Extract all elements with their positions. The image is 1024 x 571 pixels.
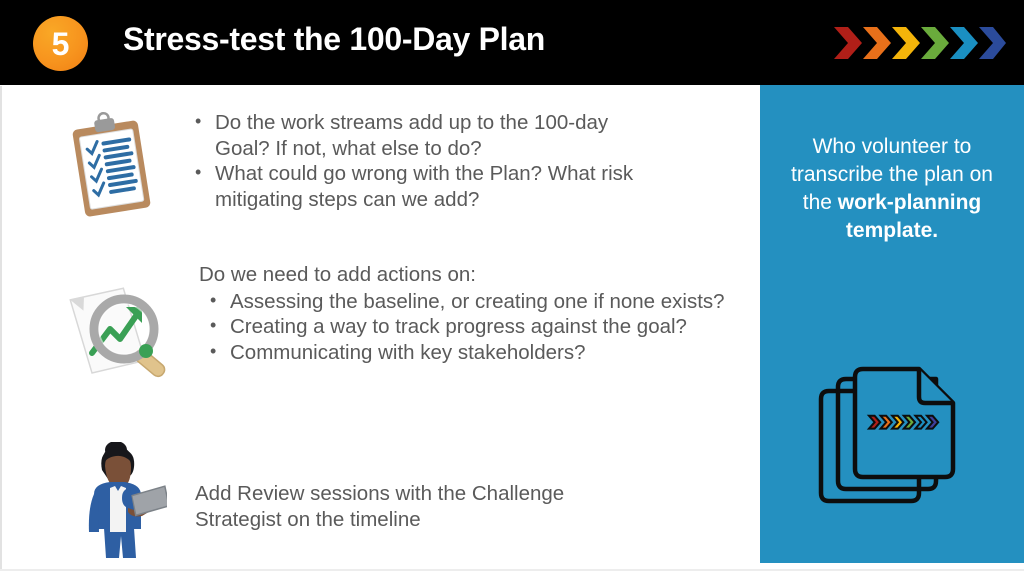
- list-item: Assessing the baseline, or creating one …: [207, 289, 744, 315]
- content-row-3: Add Review sessions with the Challenge S…: [195, 481, 645, 532]
- page-title: Stress-test the 100-Day Plan: [123, 21, 545, 58]
- list-item: Communicating with key stakeholders?: [207, 340, 744, 366]
- list-item: Do the work streams add up to the 100-da…: [192, 110, 662, 161]
- side-panel-text: Who volunteer to transcribe the plan on …: [776, 133, 1008, 245]
- slide-canvas: 5 Stress-test the 100-Day Plan Who volun…: [0, 0, 1024, 571]
- step-number-badge: 5: [33, 16, 88, 71]
- slide-header: 5 Stress-test the 100-Day Plan: [0, 0, 1024, 85]
- slide-left-border: [0, 86, 2, 571]
- content-row-1: Do the work streams add up to the 100-da…: [192, 110, 662, 212]
- rainbow-chevron-logo: [834, 26, 1006, 60]
- person-with-laptop-icon: [72, 442, 167, 560]
- row-3-text: Add Review sessions with the Challenge S…: [195, 481, 645, 532]
- step-number-label: 5: [52, 28, 70, 60]
- list-item: Creating a way to track progress against…: [207, 314, 744, 340]
- document-magnifier-growth-icon: [58, 277, 180, 389]
- list-item: What could go wrong with the Plan? What …: [192, 161, 662, 212]
- document-stack-icon: [807, 357, 977, 527]
- row-2-lead-text: Do we need to add actions on:: [199, 262, 744, 288]
- row-1-bullet-list: Do the work streams add up to the 100-da…: [192, 110, 662, 212]
- side-panel-text-bold: work-planning template.: [838, 191, 982, 242]
- side-panel: Who volunteer to transcribe the plan on …: [760, 85, 1024, 563]
- content-row-2: Do we need to add actions on: Assessing …: [199, 262, 744, 365]
- clipboard-checklist-icon: [60, 108, 170, 222]
- row-2-bullet-list: Assessing the baseline, or creating one …: [207, 289, 744, 366]
